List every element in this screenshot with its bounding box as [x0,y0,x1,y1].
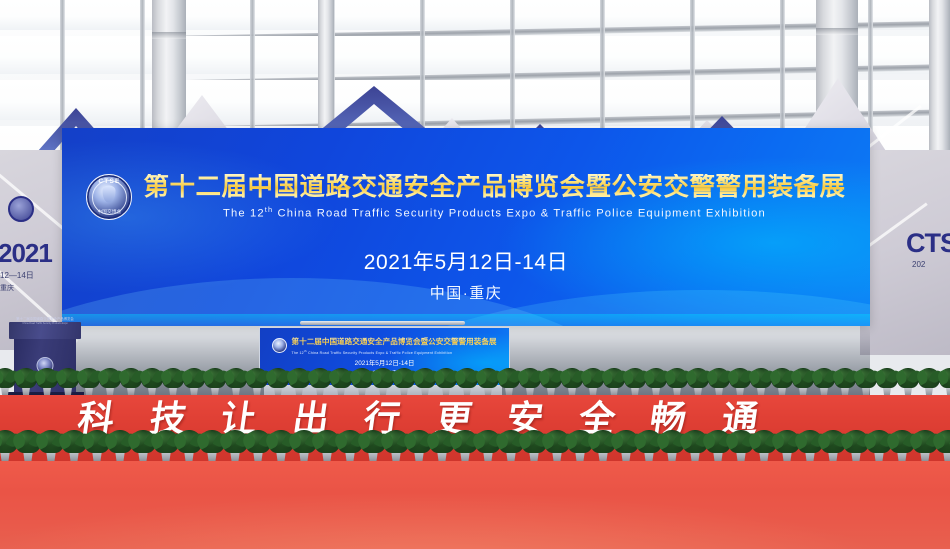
plant-leaves [935,430,950,453]
potted-plant [498,367,520,397]
plant-leaves [813,368,835,388]
potted-plant [99,367,121,397]
plant-leaves [624,368,646,388]
potted-plant [57,367,79,397]
potted-plant [15,367,37,397]
potted-plant [834,367,856,397]
plant-leaves [666,368,688,388]
potted-plant [750,367,772,397]
potted-plant [561,367,583,397]
potted-plant [666,367,688,397]
plant-leaves [771,368,793,388]
potted-plant [624,367,646,397]
title-en-prefix: The 12 [223,208,265,220]
title-en-ordinal: th [265,205,273,214]
plant-leaves [36,368,58,388]
side-banner-right: CTS 202 [860,150,950,355]
side-banner-left-year: 2021 [0,238,52,269]
emblem-bottom-text: 中国交博会 [87,209,131,215]
red-carpet-floor [0,461,950,549]
mini-title-chinese: 第十二届中国道路交通安全产品博览会暨公安交警警用装备展 [291,336,496,347]
potted-plant [183,367,205,397]
mini-title-english: The 12th China Road Traffic Security Pro… [291,349,496,355]
potted-plant [729,367,751,397]
plant-leaves [708,368,730,388]
potted-plant [0,367,16,397]
plant-leaves [141,368,163,388]
plant-leaves [15,368,37,388]
plant-leaves [393,368,415,388]
potted-plant [771,367,793,397]
plant-leaves [120,368,142,388]
mini-emblem-icon [272,338,287,353]
mini-title-row: 第十二届中国道路交通安全产品博览会暨公安交警警用装备展 The 12th Chi… [260,336,509,355]
mini-screen-light-bar [300,321,465,325]
banner-title-chinese: 第十二届中国道路交通安全产品博览会暨公安交警警用装备展 [143,174,845,201]
plant-leaves [225,368,247,388]
banner-title-row: CTSE 中国交博会 第十二届中国道路交通安全产品博览会暨公安交警警用装备展 T… [62,174,870,220]
potted-plant [477,367,499,397]
plant-leaves [183,368,205,388]
plant-leaves [162,368,184,388]
potted-plant [267,367,289,397]
potted-plant [603,367,625,397]
plant-leaves [729,368,751,388]
potted-plant [708,367,730,397]
podium-top: 第十二届中国道路交通安全产品博览会 China Road Traffic Sec… [9,322,81,339]
side-banner-right-brand: CTS [906,228,950,259]
plant-leaves [540,368,562,388]
plant-leaves [78,368,100,388]
side-banner-right-year: 202 [912,260,925,269]
mini-title-en-suffix: China Road Traffic Security Products Exp… [308,351,452,355]
plant-leaves [834,368,856,388]
potted-plant [141,367,163,397]
podium-header-english: China Road Traffic Security Products Exp… [9,322,81,325]
potted-plant [876,367,898,397]
plant-leaves [582,368,604,388]
plant-leaves [372,368,394,388]
plant-leaves [519,368,541,388]
plant-leaves [855,368,877,388]
potted-plant [120,367,142,397]
plant-leaves [603,368,625,388]
emblem-arc-text: CTSE [87,178,131,185]
plant-leaves [267,368,289,388]
potted-plant [582,367,604,397]
potted-plant [225,367,247,397]
plant-leaves [435,368,457,388]
plant-leaves [246,368,268,388]
plant-leaves [939,368,950,388]
side-banner-left-date: 12—14日 [0,270,34,281]
potted-plant [813,367,835,397]
plant-leaves [330,368,352,388]
plant-leaves [477,368,499,388]
potted-plant [351,367,373,397]
plant-leaves [561,368,583,388]
banner-title-english: The 12th China Road Traffic Security Pro… [143,205,845,220]
potted-plant [456,367,478,397]
plant-leaves [99,368,121,388]
main-led-banner: CTSE 中国交博会 第十二届中国道路交通安全产品博览会暨公安交警警用装备展 T… [62,128,870,326]
potted-plant [435,367,457,397]
potted-plant [78,367,100,397]
potted-plant [687,367,709,397]
potted-plant [204,367,226,397]
banner-date: 2021年5月12日-14日 [62,246,870,276]
potted-plant [897,367,919,397]
potted-plant [939,367,950,397]
plant-leaves [57,368,79,388]
plant-leaves [645,368,667,388]
plant-leaves [792,368,814,388]
plant-leaves [750,368,772,388]
potted-plant [288,367,310,397]
banner-location: 中国·重庆 [62,282,870,303]
potted-plant [855,367,877,397]
plant-leaves [351,368,373,388]
mini-title-en-ordinal: th [304,349,307,353]
ctse-emblem-icon: CTSE 中国交博会 [86,174,132,220]
mini-title-en-prefix: The 12 [291,351,303,355]
potted-plant [918,367,940,397]
potted-plant [792,367,814,397]
plant-leaves [897,368,919,388]
potted-plant [935,429,950,463]
side-banner-left-loc: 重庆 [0,283,14,293]
exhibition-stage-photo: 2021 12—14日 重庆 CTS 202 CTSE 中国交博会 第十二届中国… [0,0,950,549]
potted-plant [414,367,436,397]
plant-leaves [918,368,940,388]
plant-leaves [498,368,520,388]
potted-plant [645,367,667,397]
plant-leaves [204,368,226,388]
title-en-suffix: China Road Traffic Security Products Exp… [278,208,766,220]
potted-plant [540,367,562,397]
potted-plant [309,367,331,397]
potted-plant [519,367,541,397]
side-emblem-icon [8,196,34,222]
led-wave-decor [62,314,870,326]
potted-plant [162,367,184,397]
potted-plant [372,367,394,397]
plant-leaves [309,368,331,388]
mini-date: 2021年5月12日-14日 [260,358,509,367]
plant-leaves [687,368,709,388]
podium-header-chinese: 第十二届中国道路交通安全产品博览会 [9,316,81,321]
banner-date-block: 2021年5月12日-14日 中国·重庆 [62,246,870,303]
plant-leaves [876,368,898,388]
potted-plant [393,367,415,397]
potted-plant [36,367,58,397]
potted-plant [246,367,268,397]
plant-leaves [456,368,478,388]
plant-leaves [288,368,310,388]
potted-plant [330,367,352,397]
plant-leaves [414,368,436,388]
